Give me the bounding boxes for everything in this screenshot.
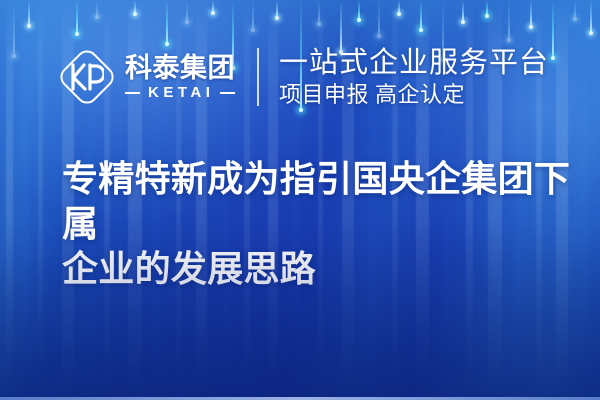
dash-left-icon — [125, 92, 140, 95]
banner-header: 科泰集团 KETAI 一站式企业服务平台 项目申报 高企认定 — [58, 44, 563, 110]
headline-line-1: 专精特新成为指引国央企集团下属 — [62, 156, 582, 246]
brand-name-cn: 科泰集团 — [125, 53, 235, 83]
slogan-block: 一站式企业服务平台 项目申报 高企认定 — [279, 48, 549, 107]
brand-name-en-row: KETAI — [125, 85, 235, 101]
slogan-secondary: 项目申报 高企认定 — [279, 83, 549, 107]
promo-banner: 科泰集团 KETAI 一站式企业服务平台 项目申报 高企认定 专精特新成为指引国… — [0, 0, 600, 400]
brand-name-en: KETAI — [146, 85, 214, 101]
brand-logo[interactable]: 科泰集团 KETAI — [58, 48, 235, 106]
ketai-kp-monogram-icon — [58, 48, 116, 106]
headline-line-2: 企业的发展思路 — [62, 246, 582, 291]
header-divider — [257, 48, 259, 106]
brand-wordmark: 科泰集团 KETAI — [125, 53, 235, 101]
headline: 专精特新成为指引国央企集团下属 企业的发展思路 — [62, 156, 582, 291]
dash-right-icon — [220, 92, 235, 95]
slogan-primary: 一站式企业服务平台 — [279, 48, 549, 79]
